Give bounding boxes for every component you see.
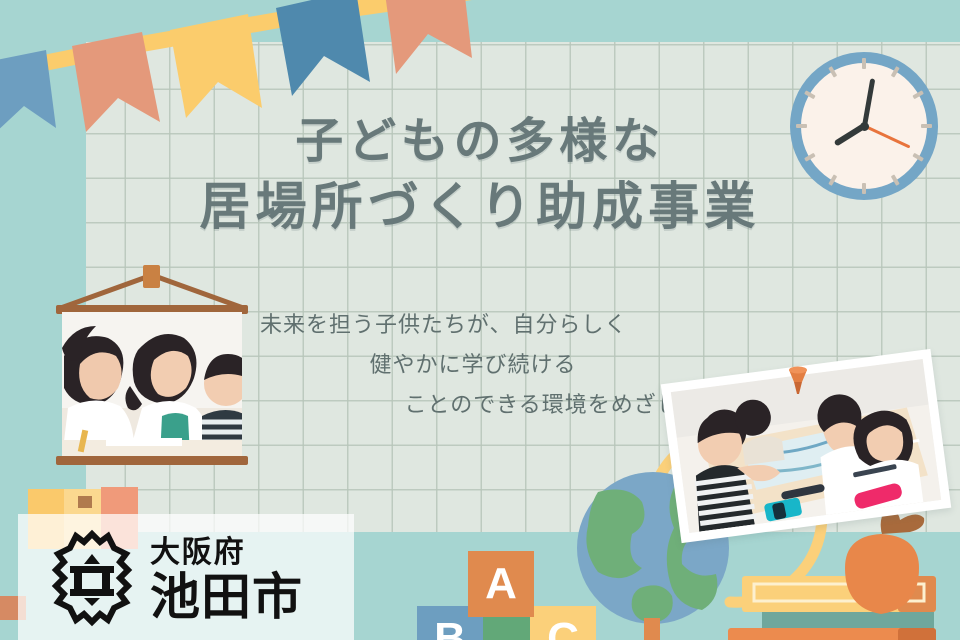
page-title: 子どもの多様な 居場所づくり助成事業 xyxy=(0,110,960,241)
ikeda-city-logo: 大阪府 池田市 xyxy=(40,524,340,636)
pushpin-icon xyxy=(785,366,811,396)
photo-clip xyxy=(143,265,160,288)
book-stack-right xyxy=(728,576,936,640)
subtitle-line-2: 健やかに学び続ける xyxy=(238,346,708,386)
photo-image-left xyxy=(62,312,242,458)
title-line-2: 居場所づくり助成事業 xyxy=(0,175,960,241)
block-a: A xyxy=(468,551,534,617)
block-c: C xyxy=(530,606,596,640)
photo-rail-bottom xyxy=(56,456,248,465)
logo-prefecture: 大阪府 xyxy=(150,536,303,570)
subtitle-line-1: 未来を担う子供たちが、自分らしく xyxy=(238,306,708,346)
logo-text: 大阪府 池田市 xyxy=(150,536,303,624)
title-line-1: 子どもの多様な xyxy=(0,110,960,172)
poster-canvas: 子どもの多様な 居場所づくり助成事業 未来を担う子供たちが、自分らしく 健やかに… xyxy=(0,0,960,640)
subtitle-line-3: ことのできる環境をめざして xyxy=(238,386,708,426)
block-a-letter: A xyxy=(485,559,517,609)
photo-classroom-students xyxy=(54,265,250,465)
block-b-letter: B xyxy=(434,614,466,640)
logo-city: 池田市 xyxy=(150,570,303,624)
ikeda-city-emblem-icon xyxy=(40,528,144,632)
subtitle: 未来を担う子供たちが、自分らしく 健やかに学び続ける ことのできる環境をめざして xyxy=(238,306,708,426)
block-c-letter: C xyxy=(547,614,579,640)
